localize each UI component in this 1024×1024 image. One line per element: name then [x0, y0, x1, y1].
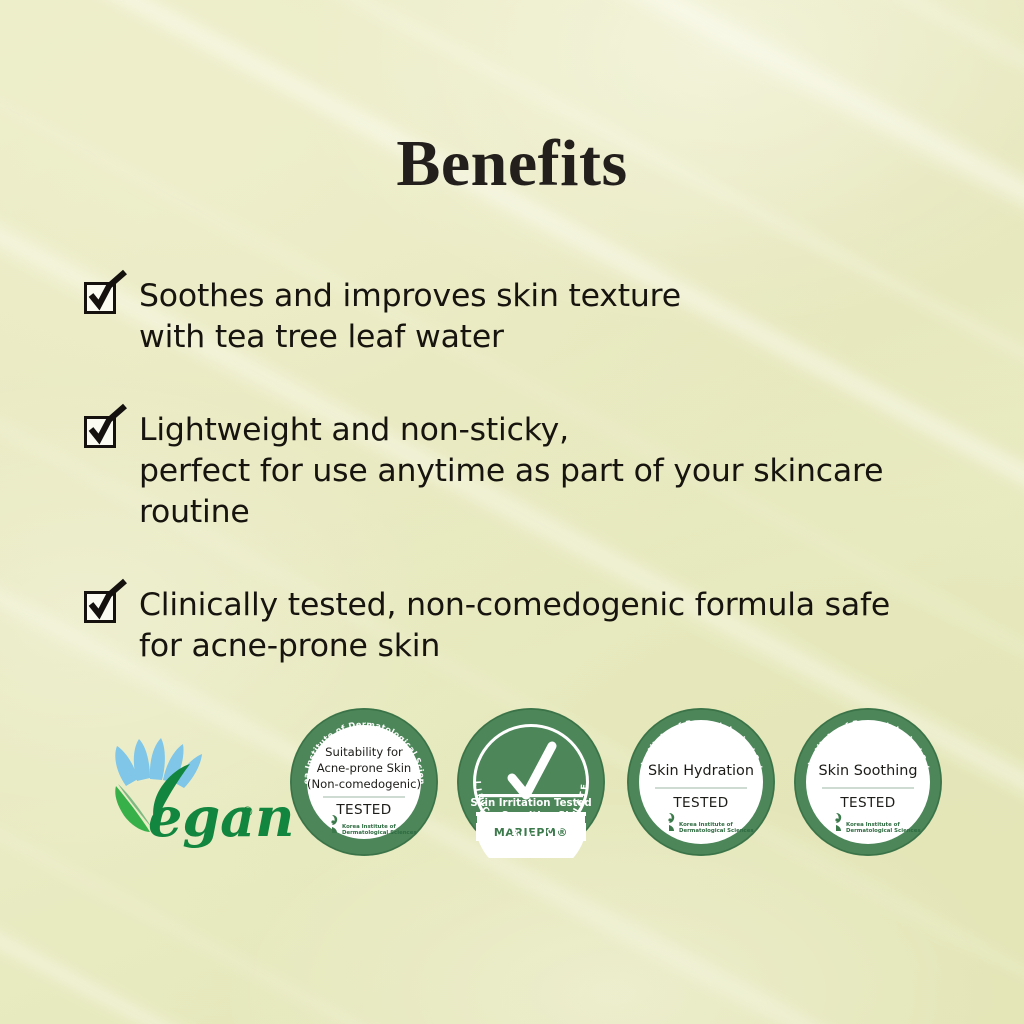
seal-line-1: Skin Hydration [648, 763, 754, 779]
seal-line-1: Skin Soothing [819, 763, 918, 779]
seal-status: TESTED [672, 795, 728, 811]
checked-checkbox-icon [84, 282, 116, 314]
seal-line-2: Acne-prone Skin [317, 761, 412, 775]
list-item: Clinically tested, non-comedogenic formu… [84, 585, 984, 667]
seal-skin-hydration: Korea Institute of Dermatological Scienc… [625, 706, 777, 858]
seal-status: TESTED [335, 802, 391, 818]
checked-checkbox-icon [84, 591, 116, 623]
certification-badges: egan ® Korea Institute of Dermatological… [0, 706, 1024, 876]
vegan-wordmark: egan [148, 785, 294, 849]
seal-status: TESTED [839, 795, 895, 811]
benefits-list: Soothes and improves skin texture with t… [84, 276, 984, 667]
vegan-logo: egan ® [82, 724, 262, 854]
seal-line-3: (Non-comedogenic) [307, 777, 421, 791]
page-title: Benefits [0, 126, 1024, 202]
list-item: Soothes and improves skin texture with t… [84, 276, 984, 358]
seal-suitability-acne-prone: Korea Institute of Dermatological Scienc… [288, 706, 440, 858]
seal-footer-2: Dermatological Sciences [679, 828, 754, 834]
benefit-text: Clinically tested, non-comedogenic formu… [139, 585, 890, 667]
list-item: Lightweight and non-sticky, perfect for … [84, 410, 984, 533]
registered-trademark-icon: ® [241, 805, 254, 820]
seal-skin-irritation: Skin Irritation Tested For Sensitive Ski… [455, 706, 607, 858]
seal-footer-2: Dermatological Sciences [846, 828, 921, 834]
benefit-text: Soothes and improves skin texture with t… [139, 276, 681, 358]
seal-skin-soothing: Korea Institute of Dermatological Scienc… [792, 706, 944, 858]
benefit-text: Lightweight and non-sticky, perfect for … [139, 410, 984, 533]
seal-footer-2: Dermatological Sciences [342, 830, 417, 836]
benefits-poster: Benefits Soothes and improves skin textu… [0, 0, 1024, 1024]
seal-line-1: Suitability for [325, 745, 403, 759]
checked-checkbox-icon [84, 416, 116, 448]
